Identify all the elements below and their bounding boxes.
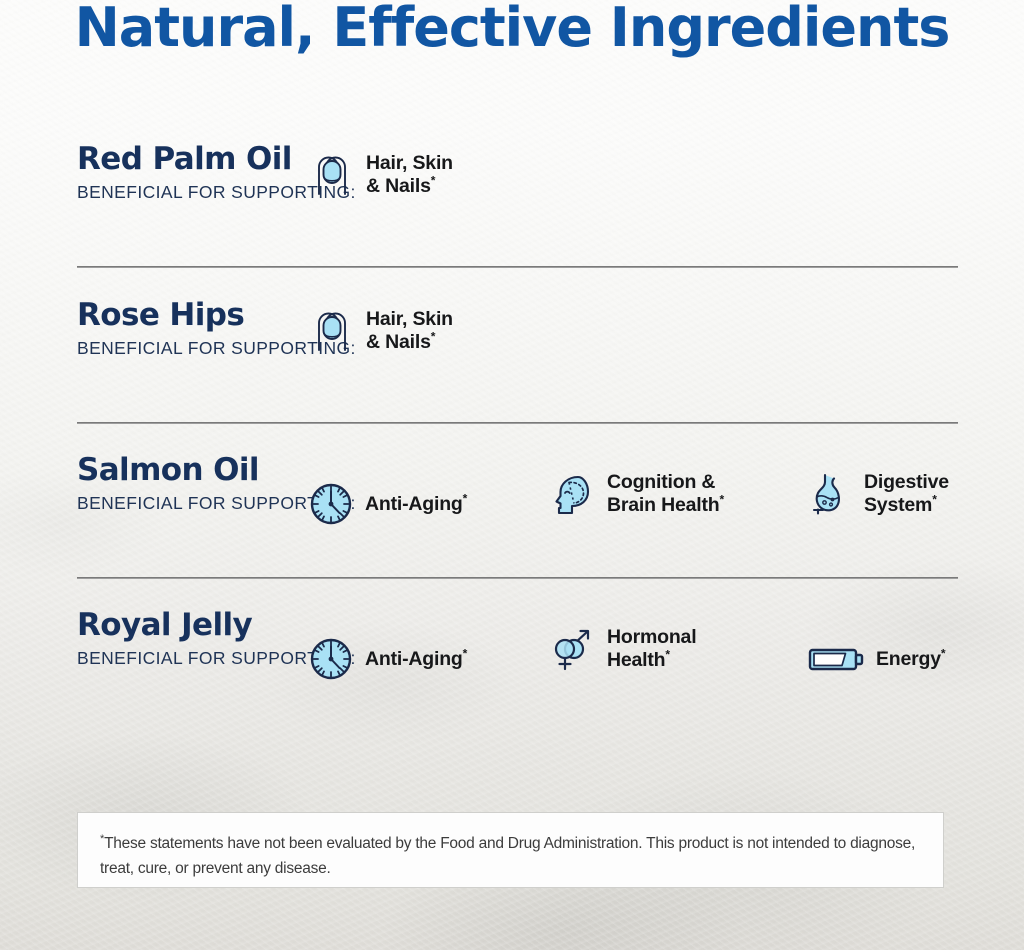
benefit-item: Hair, Skin & Nails* — [307, 306, 453, 356]
ingredient-row-royal-jelly: Royal Jelly BENEFICIAL FOR SUPPORTING: — [77, 608, 958, 718]
ingredient-row-salmon-oil: Salmon Oil BENEFICIAL FOR SUPPORTING: — [77, 453, 958, 563]
row-divider — [77, 422, 958, 424]
benefit-item: Anti-Aging* — [306, 634, 467, 684]
benefit-list: Anti-Aging* Cognition & Brain Health* — [307, 453, 958, 563]
ingredients-panel: Natural, Effective Ingredients Red Palm … — [0, 0, 1024, 950]
benefit-label: Hair, Skin & Nails* — [366, 308, 453, 354]
benefit-label: Energy* — [876, 648, 945, 671]
ingredient-sub-label: BENEFICIAL FOR SUPPORTING: — [77, 648, 307, 669]
clock-icon — [306, 479, 356, 529]
benefit-list: Hair, Skin & Nails* — [307, 142, 958, 252]
ingredient-info: Rose Hips BENEFICIAL FOR SUPPORTING: — [77, 298, 307, 359]
benefit-label: Anti-Aging* — [365, 648, 467, 671]
benefit-item: Hair, Skin & Nails* — [307, 150, 453, 200]
ingredient-sub-label: BENEFICIAL FOR SUPPORTING: — [77, 182, 307, 203]
benefit-label: Hormonal Health* — [607, 626, 696, 672]
ingredient-name: Rose Hips — [77, 298, 307, 332]
clock-icon — [306, 634, 356, 684]
benefit-item: Hormonal Health* — [548, 624, 696, 674]
ingredient-name: Salmon Oil — [77, 453, 307, 487]
stomach-icon — [805, 469, 855, 519]
fingernail-icon — [307, 306, 357, 356]
benefit-list: Hair, Skin & Nails* — [307, 298, 958, 408]
benefit-label: Digestive System* — [864, 471, 949, 517]
fingernail-icon — [307, 150, 357, 200]
gender-symbols-icon — [548, 624, 598, 674]
benefit-item: Cognition & Brain Health* — [548, 469, 724, 519]
disclaimer-box: *These statements have not been evaluate… — [77, 812, 944, 888]
benefit-item: Anti-Aging* — [306, 479, 467, 529]
ingredient-name: Red Palm Oil — [77, 142, 307, 176]
row-divider — [77, 577, 958, 579]
benefit-item: Energy* — [805, 634, 945, 684]
ingredient-sub-label: BENEFICIAL FOR SUPPORTING: — [77, 493, 307, 514]
row-divider — [77, 266, 958, 268]
page-title: Natural, Effective Ingredients — [0, 0, 1024, 59]
benefit-label: Hair, Skin & Nails* — [366, 152, 453, 198]
benefit-label: Cognition & Brain Health* — [607, 471, 724, 517]
benefit-label: Anti-Aging* — [365, 493, 467, 516]
brain-head-icon — [548, 469, 598, 519]
ingredient-row-red-palm-oil: Red Palm Oil BENEFICIAL FOR SUPPORTING: … — [77, 142, 958, 252]
benefit-list: Anti-Aging* Hormonal Health* — [307, 608, 958, 718]
ingredient-sub-label: BENEFICIAL FOR SUPPORTING: — [77, 338, 307, 359]
battery-icon — [805, 634, 867, 684]
ingredient-info: Red Palm Oil BENEFICIAL FOR SUPPORTING: — [77, 142, 307, 203]
ingredient-name: Royal Jelly — [77, 608, 307, 642]
disclaimer-text: *These statements have not been evaluate… — [100, 831, 921, 881]
ingredient-info: Salmon Oil BENEFICIAL FOR SUPPORTING: — [77, 453, 307, 514]
ingredient-info: Royal Jelly BENEFICIAL FOR SUPPORTING: — [77, 608, 307, 669]
ingredient-row-rose-hips: Rose Hips BENEFICIAL FOR SUPPORTING: Hai… — [77, 298, 958, 408]
benefit-item: Digestive System* — [805, 469, 949, 519]
